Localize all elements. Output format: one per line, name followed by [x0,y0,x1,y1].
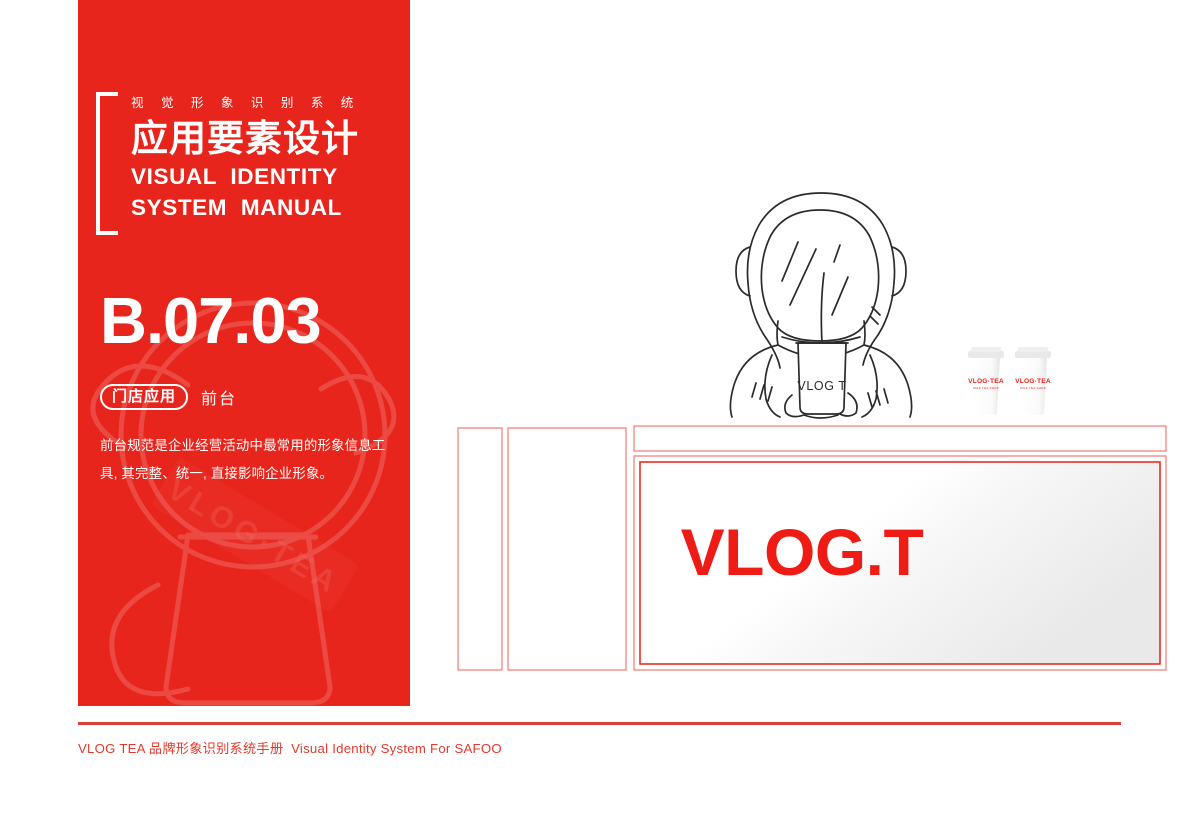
left-red-panel: VLOG·TEA 视 觉 形 象 识 别 系 统 应用要素设计 VISUAL I… [78,0,410,706]
counter-side-panel-narrow [458,428,502,670]
straw [821,273,824,343]
counter-brand-logo: VLOG.T [681,515,924,589]
page-canvas: VLOG·TEA 视 觉 形 象 识 别 系 统 应用要素设计 VISUAL I… [0,0,1200,827]
branded-cup-1: VLOG·TEA MILK TEA SHOP [968,347,1004,415]
counter-side-panel-wide [508,428,626,670]
branded-cup-2: VLOG·TEA MILK TEA SHOP [1015,347,1051,415]
panel-title-en-line1: VISUAL IDENTITY [131,162,360,193]
cup-logo-sub: MILK TEA SHOP [1020,386,1046,390]
cup-logo-main: VLOG·TEA [1015,378,1051,385]
mascot-cup-label: VLOG T [797,379,846,393]
astronaut-mascot-sketch: VLOG T [720,185,920,420]
category-subtitle: 前台 [201,385,237,409]
section-description: 前台规范是企业经营活动中最常用的形象信息工具, 其完整、统一, 直接影响企业形象… [100,432,388,489]
watermark-label: VLOG·TEA [162,473,346,602]
panel-kicker: 视 觉 形 象 识 别 系 统 [131,92,360,110]
counter-top-rail [634,426,1166,451]
footer-rule [78,722,1121,725]
bracket-decoration [96,92,118,235]
footer-text: VLOG TEA 品牌形象识别系统手册 Visual Identity Syst… [78,738,502,757]
section-code: B.07.03 [100,288,321,353]
cup-logo-sub: MILK TEA SHOP [973,386,999,390]
reception-counter-drawing: VLOG.T [457,415,1167,680]
panel-title-en-line2: SYSTEM MANUAL [131,193,360,224]
panel-title-cn: 应用要素设计 [131,117,360,161]
cup-logo-main: VLOG·TEA [968,378,1004,385]
panel-heading-block: 视 觉 形 象 识 别 系 统 应用要素设计 VISUAL IDENTITY S… [78,92,410,235]
category-badge: 门店应用 [100,384,188,410]
section-badge-row: 门店应用 前台 [100,384,237,410]
illustration-stage: VLOG T VLOG·TEA MILK TEA SHOP [420,0,1200,706]
branded-cups-pair: VLOG·TEA MILK TEA SHOP VLOG·TEA MILK TEA… [962,340,1062,418]
